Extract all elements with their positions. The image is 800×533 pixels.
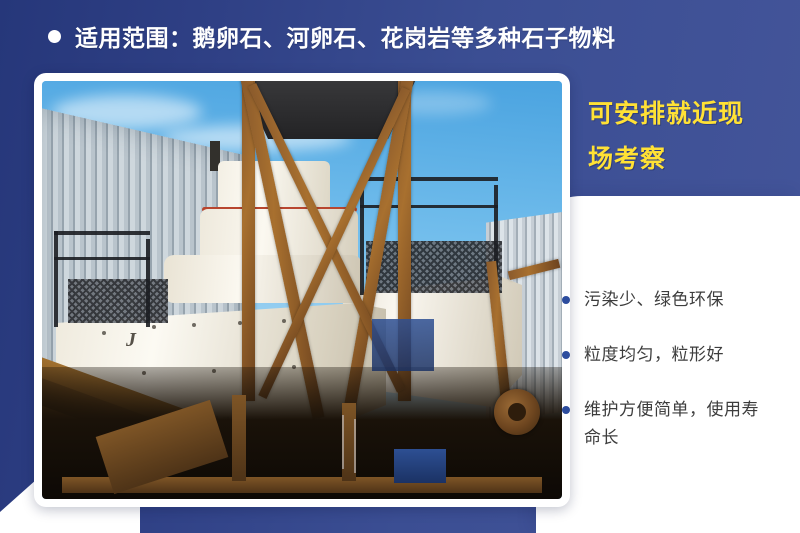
railing-post [146, 239, 150, 327]
feature-label: 维护方便简单，使用寿命长 [584, 396, 770, 452]
bolt-icon [152, 325, 156, 329]
blue-dot-icon [562, 406, 570, 414]
bolt-icon [192, 323, 196, 327]
list-item: 污染少、绿色环保 [562, 286, 798, 314]
motor-housing-blue [372, 319, 434, 371]
banner-header: 适用范围：鹅卵石、河卵石、花岗岩等多种石子物料 [0, 0, 800, 72]
photo-card: J [34, 73, 570, 507]
circle-bullet-icon [48, 30, 61, 43]
railing-top-bar [54, 231, 150, 235]
control-box-blue [394, 449, 446, 483]
promo-line-1: 可安排就近现 [588, 92, 788, 137]
machine-photo: J [42, 81, 562, 499]
ground-post [232, 395, 246, 481]
promo-headline: 可安排就近现 场考察 [588, 92, 788, 182]
bolt-icon [102, 331, 106, 335]
bolt-icon [282, 319, 286, 323]
cable-line [342, 415, 344, 469]
feature-label: 粒度均匀，粒形好 [584, 341, 724, 369]
railing-mid-bar [54, 257, 150, 260]
feature-label: 污染少、绿色环保 [584, 286, 724, 314]
list-item: 维护方便简单，使用寿命长 [562, 396, 798, 452]
cable-line [354, 419, 356, 473]
railing-top-bar [360, 177, 498, 181]
promo-line-2: 场考察 [588, 137, 788, 182]
blue-dot-icon [562, 351, 570, 359]
flywheel-pulley [494, 389, 540, 435]
page-title: 适用范围：鹅卵石、河卵石、花岗岩等多种石子物料 [75, 19, 616, 53]
blue-dot-icon [562, 296, 570, 304]
machine-watermark: J [126, 329, 136, 352]
list-item: 粒度均匀，粒形好 [562, 341, 798, 369]
railing-post [54, 231, 58, 327]
promo-banner: 适用范围：鹅卵石、河卵石、花岗岩等多种石子物料 J [0, 0, 800, 533]
crusher-lower-drum [164, 255, 362, 303]
feature-list: 污染少、绿色环保 粒度均匀，粒形好 维护方便简单，使用寿命长 [562, 286, 798, 479]
railing-mesh-right [366, 241, 502, 293]
railing-mesh-left [68, 279, 168, 323]
